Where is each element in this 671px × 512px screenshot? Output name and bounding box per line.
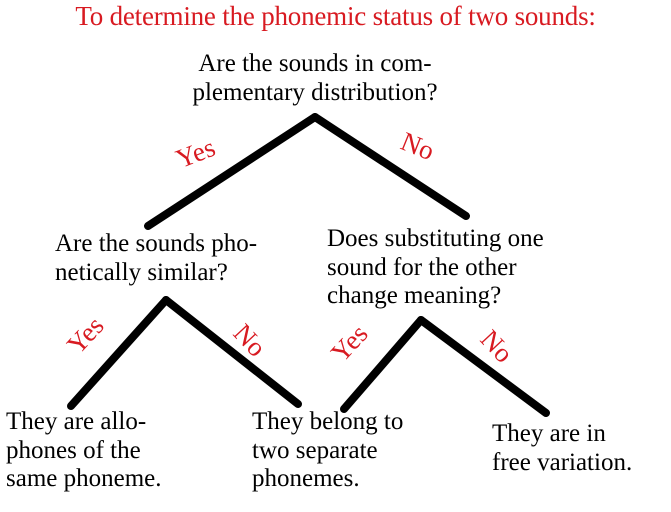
- node-question-change-meaning: Does substituting one sound for the othe…: [327, 225, 617, 311]
- edge-root-yes: [148, 117, 315, 226]
- leaf-allophones-line-3: same phoneme.: [6, 465, 216, 494]
- leaf-free-variation-line-1: They are in: [492, 420, 671, 449]
- question-left-line-2: netically similar?: [55, 259, 330, 288]
- leaf-allophones-line-1: They are allo-: [6, 408, 216, 437]
- node-root-question: Are the sounds in com- plementary distri…: [150, 50, 480, 107]
- question-right-line-3: change meaning?: [327, 282, 617, 311]
- edge-label-right-no: No: [475, 325, 517, 368]
- node-leaf-allophones: They are allo- phones of the same phonem…: [6, 408, 216, 494]
- leaf-free-variation-line-2: free variation.: [492, 449, 671, 478]
- edge-label-root-yes: Yes: [172, 134, 218, 173]
- leaf-two-phonemes-line-1: They belong to: [252, 408, 452, 437]
- leaf-two-phonemes-line-3: phonemes.: [252, 465, 452, 494]
- node-leaf-free-variation: They are in free variation.: [492, 420, 671, 477]
- node-leaf-two-phonemes: They belong to two separate phonemes.: [252, 408, 452, 494]
- question-right-line-1: Does substituting one: [327, 225, 617, 254]
- edge-label-left-yes: Yes: [62, 312, 109, 359]
- edge-label-right-yes: Yes: [326, 320, 373, 367]
- page-title: To determine the phonemic status of two …: [0, 1, 671, 32]
- edge-label-left-no: No: [228, 319, 270, 362]
- edge-left-no: [166, 300, 298, 404]
- edge-right-no: [421, 320, 546, 413]
- root-question-line-2: plementary distribution?: [150, 79, 480, 108]
- leaf-two-phonemes-line-2: two separate: [252, 437, 452, 466]
- flowchart-canvas: To determine the phonemic status of two …: [0, 0, 671, 512]
- question-right-line-2: sound for the other: [327, 254, 617, 283]
- node-question-phonetically-similar: Are the sounds pho- netically similar?: [55, 230, 330, 287]
- leaf-allophones-line-2: phones of the: [6, 437, 216, 466]
- question-left-line-1: Are the sounds pho-: [55, 230, 330, 259]
- edge-label-root-no: No: [397, 128, 438, 165]
- root-question-line-1: Are the sounds in com-: [150, 50, 480, 79]
- edge-root-no: [315, 117, 466, 216]
